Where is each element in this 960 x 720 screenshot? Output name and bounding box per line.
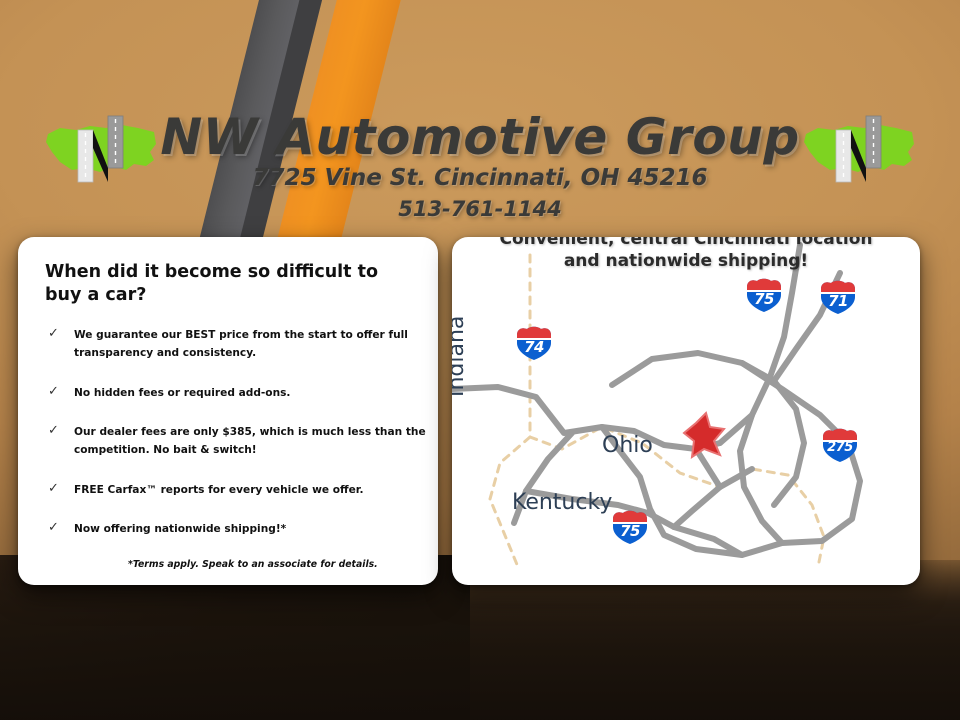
list-item: ✓ No hidden fees or required add-ons. [40, 383, 432, 401]
interstate-shield-75-south: 75 [610, 509, 650, 545]
map-caption-line-2: and nationwide shipping! [452, 251, 920, 273]
shield-number: 74 [514, 338, 554, 356]
regional-map: Ohio Kentucky Indiana 75 74 [452, 237, 920, 585]
terms-disclaimer: *Terms apply. Speak to an associate for … [128, 559, 378, 570]
list-item-label: We guarantee our BEST price from the sta… [74, 329, 408, 359]
shield-number: 71 [818, 292, 858, 310]
checkmark-icon: ✓ [48, 325, 59, 341]
map-caption-line-1: Convenient, central Cincinnati location [452, 237, 920, 251]
shield-number: 75 [744, 290, 784, 308]
checkmark-icon: ✓ [48, 519, 59, 535]
map-label-kentucky: Kentucky [512, 490, 612, 515]
map-label-indiana: Indiana [452, 316, 469, 397]
interstate-shield-275: 275 [820, 427, 860, 463]
list-item: ✓ FREE Carfax™ reports for every vehicle… [40, 480, 432, 498]
slide-canvas: NW Automotive Group 7725 Vine St. Cincin… [0, 0, 960, 720]
location-map-panel: Convenient, central Cincinnati location … [452, 237, 920, 585]
checkmark-icon: ✓ [48, 383, 59, 399]
list-item: ✓ We guarantee our BEST price from the s… [40, 325, 432, 362]
list-item-label: No hidden fees or required add-ons. [74, 387, 290, 399]
list-item: ✓ Our dealer fees are only $385, which i… [40, 422, 432, 459]
interstate-shield-71: 71 [818, 279, 858, 315]
company-address: 7725 Vine St. Cincinnati, OH 45216 [0, 165, 960, 191]
interstate-shield-75-north: 75 [744, 277, 784, 313]
shield-number: 75 [610, 522, 650, 540]
interstate-shield-74: 74 [514, 325, 554, 361]
checkmark-icon: ✓ [48, 422, 59, 438]
list-item: ✓ Now offering nationwide shipping!* [40, 519, 432, 537]
company-phone: 513-761-1144 [0, 197, 960, 221]
list-item-label: Our dealer fees are only $385, which is … [74, 426, 426, 456]
list-item-label: FREE Carfax™ reports for every vehicle w… [74, 484, 364, 496]
map-caption: Convenient, central Cincinnati location … [452, 237, 920, 273]
sales-pitch-panel: When did it become so difficult to buy a… [18, 237, 438, 585]
map-label-ohio: Ohio [602, 433, 653, 458]
list-item-label: Now offering nationwide shipping!* [74, 523, 286, 535]
checkmark-icon: ✓ [48, 480, 59, 496]
shield-number: 275 [820, 440, 860, 455]
company-name: NW Automotive Group [0, 108, 960, 166]
benefits-list: ✓ We guarantee our BEST price from the s… [40, 325, 432, 559]
panel-headline: When did it become so difficult to buy a… [45, 261, 415, 307]
